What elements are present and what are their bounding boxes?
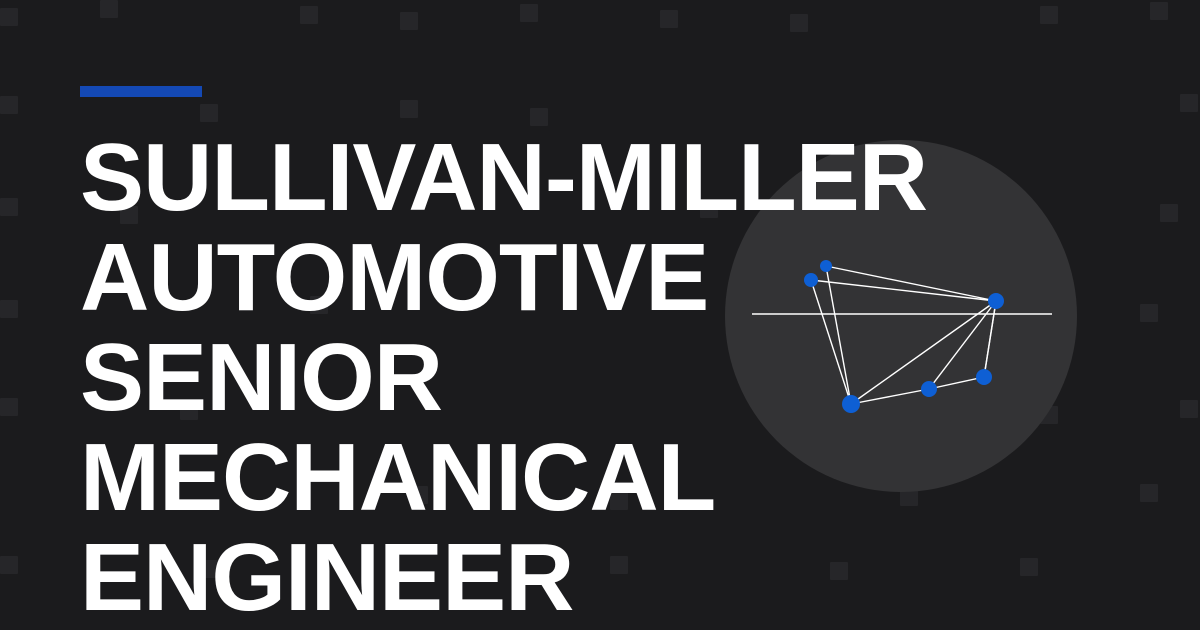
content-block: SULLIVAN-MILLER AUTOMOTIVE SENIOR MECHAN… [80,86,1060,628]
grid-square [0,556,18,574]
grid-square [0,96,18,114]
page-title: SULLIVAN-MILLER AUTOMOTIVE SENIOR MECHAN… [80,128,1060,628]
grid-square [0,8,18,26]
grid-square [300,6,318,24]
grid-square [1150,2,1168,20]
grid-square [0,398,18,416]
grid-square [520,4,538,22]
social-card: SULLIVAN-MILLER AUTOMOTIVE SENIOR MECHAN… [0,0,1200,630]
grid-square [1180,94,1198,112]
grid-square [660,10,678,28]
grid-square [0,198,18,216]
grid-square [400,12,418,30]
grid-square [790,14,808,32]
grid-square [1040,6,1058,24]
grid-square [1180,400,1198,418]
grid-square [0,300,18,318]
grid-square [1140,304,1158,322]
accent-bar [80,86,202,97]
grid-square [1140,484,1158,502]
grid-square [100,0,118,18]
grid-square [1160,204,1178,222]
